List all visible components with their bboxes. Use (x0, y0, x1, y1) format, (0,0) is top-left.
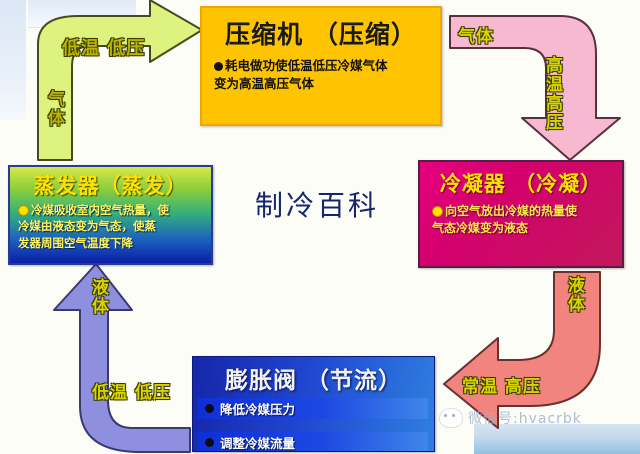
arrow-compressor-to-condenser (450, 16, 620, 160)
diagram-canvas: 低温 低压 气体 气体 高温高压 液体 常温 高压 液体 低温 低压 压缩机 （… (0, 0, 640, 454)
condenser-box[interactable]: 冷凝器 （冷凝） 向空气放出冷媒的热量使 气态冷媒变为液态 (418, 160, 624, 268)
arrow-expansion-to-evaporator (54, 264, 190, 452)
condenser-line-1: 向空气放出冷媒的热量使 (445, 204, 577, 218)
expansion-valve-row-1: 降低冷媒压力 (197, 398, 428, 419)
compressor-line-2: 变为高温高压气体 (214, 76, 314, 91)
condenser-title: 冷凝器 （冷凝） (420, 168, 622, 198)
evaporator-description: 冷媒吸收室内空气热量，使 冷媒由液态变为气态，使蒸 发器周围空气温度下降 (18, 202, 205, 251)
expansion-valve-row-2: 调整冷媒流量 (197, 432, 428, 452)
expansion-valve-row-1-label: 降低冷媒压力 (220, 399, 295, 418)
compressor-title: 压缩机 （压缩） (202, 15, 440, 51)
condenser-line-2: 气态冷媒变为液态 (432, 221, 528, 235)
expansion-valve-box[interactable]: 膨胀阀 （节流） 降低冷媒压力 调整冷媒流量 (192, 356, 435, 452)
bullet-icon (205, 404, 214, 413)
evaporator-line-1: 冷媒吸收室内空气热量，使 (31, 203, 169, 217)
compressor-box[interactable]: 压缩机 （压缩） 耗电做功使低温低压冷媒气体 变为高温高压气体 (200, 6, 442, 126)
compressor-description: 耗电做功使低温低压冷媒气体 变为高温高压气体 (214, 57, 430, 93)
expansion-valve-title: 膨胀阀 （节流） (193, 361, 434, 395)
bullet-icon (214, 62, 223, 71)
bullet-icon (432, 206, 443, 217)
evaporator-title: 蒸发器（蒸发） (10, 170, 211, 200)
evaporator-box[interactable]: 蒸发器（蒸发） 冷媒吸收室内空气热量，使 冷媒由液态变为气态，使蒸 发器周围空气… (8, 165, 213, 265)
bullet-icon (205, 438, 214, 447)
arrow-condenser-to-expansion (444, 272, 600, 428)
page-title: 制冷百科 (232, 184, 402, 224)
compressor-line-1: 耗电做功使低温低压冷媒气体 (225, 58, 388, 73)
arrow-evaporator-to-compressor (38, 0, 202, 160)
bullet-icon (18, 205, 29, 216)
expansion-valve-row-2-label: 调整冷媒流量 (220, 433, 295, 452)
condenser-description: 向空气放出冷媒的热量使 气态冷媒变为液态 (432, 203, 614, 238)
evaporator-line-2: 冷媒由液态变为气态，使蒸 (18, 219, 156, 233)
evaporator-line-3: 发器周围空气温度下降 (18, 236, 133, 250)
